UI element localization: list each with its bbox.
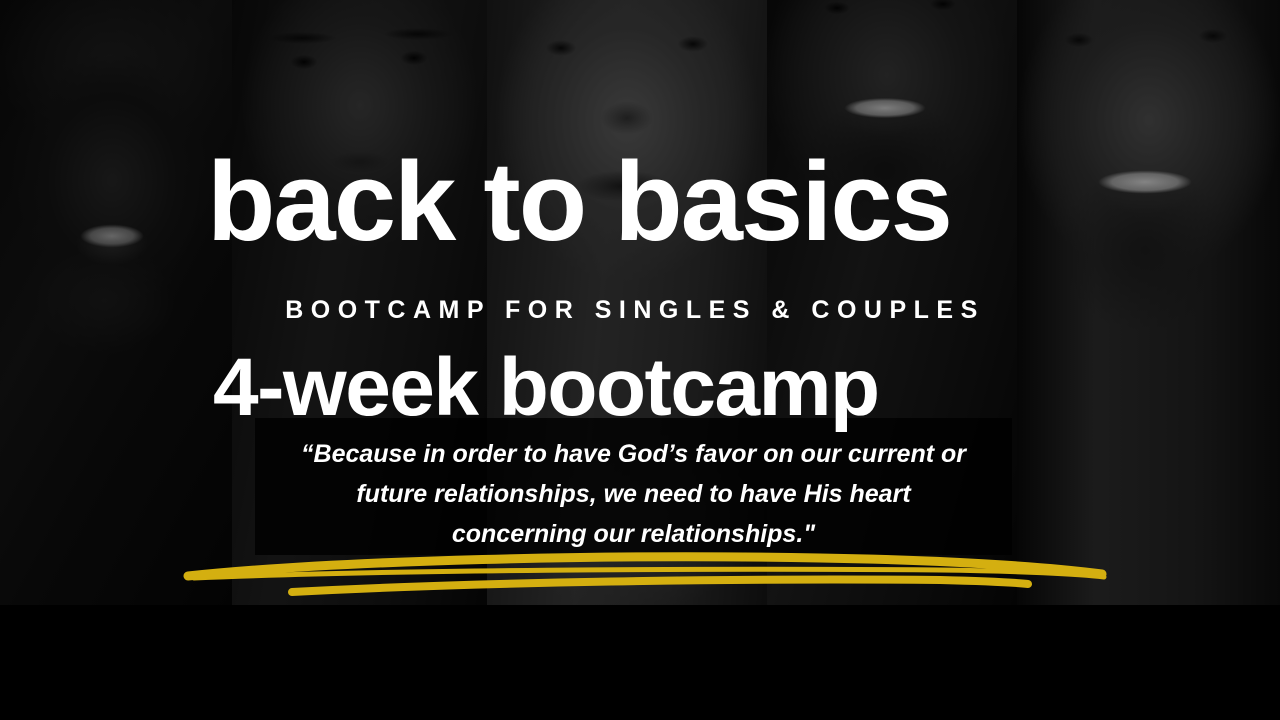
quote-line: future relationships, we need to have Hi…: [255, 474, 1012, 514]
headline-primary: back to basics: [207, 146, 1107, 258]
bottom-black-band: [0, 605, 1280, 720]
gold-banner: BOOTCAMP FOR SINGLES & COUPLES: [197, 276, 1073, 345]
headline-secondary: 4-week bootcamp: [213, 347, 1113, 429]
quote-line: “Because in order to have God’s favor on…: [255, 434, 1012, 474]
gold-banner-label: BOOTCAMP FOR SINGLES & COUPLES: [285, 296, 985, 325]
poster-canvas: back to basics BOOTCAMP FOR SINGLES & CO…: [0, 0, 1280, 720]
quote-block: “Because in order to have God’s favor on…: [255, 434, 1012, 554]
quote-line: concerning our relationships.": [255, 514, 1012, 554]
